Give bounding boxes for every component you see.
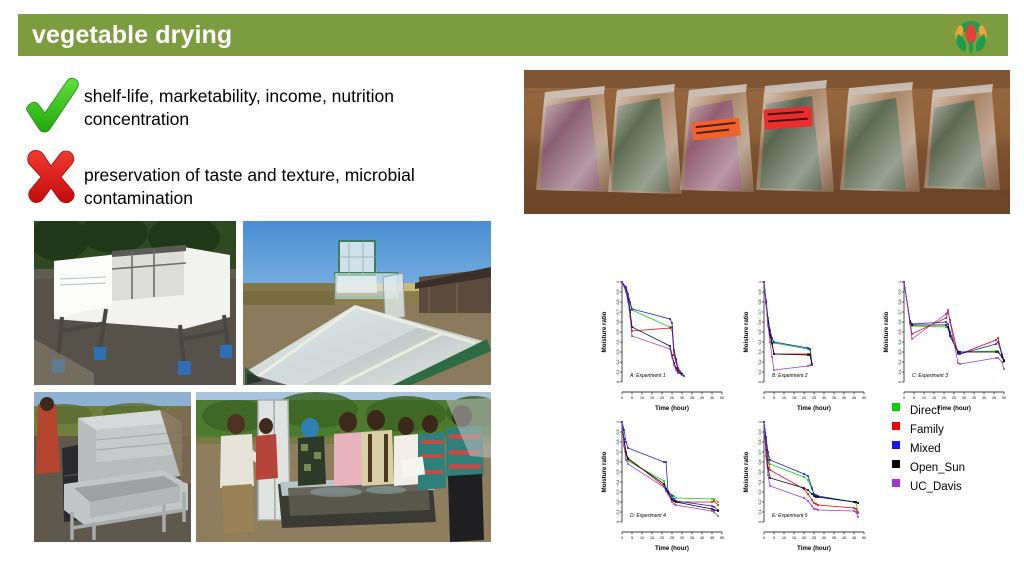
svg-text:40: 40 — [700, 536, 704, 540]
photo-dried-vegetable-bags — [524, 70, 1010, 214]
svg-text:0.6: 0.6 — [898, 320, 902, 325]
svg-text:0: 0 — [758, 521, 762, 523]
svg-text:50: 50 — [1002, 396, 1006, 400]
svg-text:5: 5 — [631, 396, 633, 400]
svg-text:50: 50 — [720, 536, 724, 540]
svg-text:35: 35 — [690, 536, 694, 540]
svg-text:0.8: 0.8 — [616, 440, 620, 445]
svg-text:50: 50 — [862, 536, 866, 540]
svg-text:25: 25 — [812, 536, 816, 540]
page-title: vegetable drying — [18, 23, 232, 48]
svg-text:1: 1 — [616, 421, 620, 423]
legend-label-open_sun: Open_Sun — [910, 462, 965, 474]
svg-text:0.7: 0.7 — [758, 310, 762, 315]
svg-text:Moisture ratio: Moisture ratio — [601, 451, 608, 492]
chart-panel-label: A: Experiment 1 — [629, 373, 666, 379]
svg-text:25: 25 — [670, 536, 674, 540]
bullet-challenges-text: preservation of taste and texture, micro… — [84, 148, 510, 210]
svg-text:0.1: 0.1 — [616, 370, 620, 375]
svg-text:50: 50 — [862, 396, 866, 400]
svg-text:45: 45 — [710, 396, 714, 400]
svg-text:10: 10 — [640, 536, 644, 540]
svg-text:20: 20 — [802, 396, 806, 400]
svg-text:35: 35 — [690, 396, 694, 400]
svg-text:0.4: 0.4 — [898, 340, 902, 345]
svg-text:20: 20 — [802, 536, 806, 540]
legend-label-uc_davis: UC_Davis — [910, 481, 962, 493]
svg-text:20: 20 — [942, 396, 946, 400]
svg-text:40: 40 — [842, 396, 846, 400]
green-check-icon — [20, 78, 82, 136]
svg-text:0.5: 0.5 — [616, 330, 620, 335]
svg-text:0.6: 0.6 — [616, 320, 620, 325]
svg-text:0: 0 — [616, 521, 620, 523]
svg-text:5: 5 — [631, 536, 633, 540]
svg-text:0.2: 0.2 — [898, 360, 902, 365]
photo-metal-cabinet-dryer — [34, 392, 191, 542]
svg-text:0.4: 0.4 — [758, 480, 762, 485]
svg-text:0.6: 0.6 — [758, 320, 762, 325]
photo-solar-tunnel-dryer — [243, 221, 491, 385]
svg-text:30: 30 — [822, 396, 826, 400]
svg-text:15: 15 — [792, 396, 796, 400]
svg-text:45: 45 — [852, 396, 856, 400]
svg-text:25: 25 — [952, 396, 956, 400]
svg-text:45: 45 — [992, 396, 996, 400]
svg-text:5: 5 — [913, 396, 915, 400]
svg-text:Time (hour): Time (hour) — [797, 545, 831, 552]
svg-text:0.4: 0.4 — [758, 340, 762, 345]
svg-text:Time (hour): Time (hour) — [937, 405, 971, 412]
svg-text:30: 30 — [680, 536, 684, 540]
svg-text:0.1: 0.1 — [898, 370, 902, 375]
svg-text:15: 15 — [792, 536, 796, 540]
legend-swatch-uc_davis — [892, 479, 900, 487]
svg-text:10: 10 — [782, 536, 786, 540]
svg-text:10: 10 — [782, 396, 786, 400]
svg-text:1: 1 — [758, 421, 762, 423]
svg-text:40: 40 — [982, 396, 986, 400]
svg-text:0.4: 0.4 — [616, 340, 620, 345]
svg-text:0: 0 — [763, 536, 765, 540]
svg-text:5: 5 — [773, 536, 775, 540]
svg-text:0.2: 0.2 — [758, 500, 762, 505]
photo-training-group — [196, 392, 491, 542]
svg-text:Moisture ratio: Moisture ratio — [743, 311, 750, 352]
legend-swatch-open_sun — [892, 460, 900, 468]
svg-text:0.5: 0.5 — [758, 330, 762, 335]
svg-text:0.3: 0.3 — [616, 350, 620, 355]
flower-logo-icon — [946, 17, 996, 55]
svg-text:35: 35 — [972, 396, 976, 400]
svg-text:0.6: 0.6 — [758, 460, 762, 465]
svg-text:0: 0 — [898, 381, 902, 383]
chart-svg: 00.10.20.30.40.50.60.70.80.91Moisture ra… — [592, 262, 1012, 552]
bullet-challenges: preservation of taste and texture, micro… — [20, 148, 510, 210]
legend-swatch-direct — [892, 403, 900, 411]
slide-canvas: vegetable drying — [0, 0, 1024, 576]
chart-panel-label: C: Experiment 3 — [912, 373, 948, 379]
svg-text:0: 0 — [903, 396, 905, 400]
svg-text:0.7: 0.7 — [616, 310, 620, 315]
svg-text:1: 1 — [758, 281, 762, 283]
svg-text:Moisture ratio: Moisture ratio — [601, 311, 608, 352]
svg-text:0: 0 — [763, 396, 765, 400]
svg-text:40: 40 — [842, 536, 846, 540]
svg-text:30: 30 — [822, 536, 826, 540]
svg-text:0.3: 0.3 — [758, 490, 762, 495]
svg-text:0.3: 0.3 — [758, 350, 762, 355]
svg-text:0.7: 0.7 — [758, 450, 762, 455]
svg-text:0.9: 0.9 — [758, 290, 762, 295]
svg-text:0.3: 0.3 — [898, 350, 902, 355]
svg-text:0.8: 0.8 — [898, 300, 902, 305]
svg-text:0.9: 0.9 — [898, 290, 902, 295]
svg-text:45: 45 — [852, 536, 856, 540]
svg-text:0.8: 0.8 — [616, 300, 620, 305]
svg-text:30: 30 — [680, 396, 684, 400]
svg-text:Moisture ratio: Moisture ratio — [743, 451, 750, 492]
svg-text:0.8: 0.8 — [758, 300, 762, 305]
svg-text:0: 0 — [758, 381, 762, 383]
svg-text:40: 40 — [700, 396, 704, 400]
svg-text:10: 10 — [922, 396, 926, 400]
svg-text:10: 10 — [640, 396, 644, 400]
svg-text:0: 0 — [621, 536, 623, 540]
moisture-ratio-chart: 00.10.20.30.40.50.60.70.80.91Moisture ra… — [592, 262, 1012, 552]
svg-text:Time (hour): Time (hour) — [655, 405, 689, 412]
svg-text:0.9: 0.9 — [758, 430, 762, 435]
svg-text:1: 1 — [898, 281, 902, 283]
legend-swatch-family — [892, 422, 900, 430]
legend-label-direct: Direct — [910, 405, 941, 417]
svg-text:25: 25 — [812, 396, 816, 400]
svg-text:0.7: 0.7 — [898, 310, 902, 315]
svg-text:50: 50 — [720, 396, 724, 400]
svg-text:0.5: 0.5 — [758, 470, 762, 475]
svg-text:30: 30 — [962, 396, 966, 400]
svg-text:0.4: 0.4 — [616, 480, 620, 485]
svg-text:15: 15 — [932, 396, 936, 400]
svg-text:0.2: 0.2 — [616, 360, 620, 365]
svg-text:20: 20 — [660, 396, 664, 400]
svg-text:0.5: 0.5 — [898, 330, 902, 335]
svg-text:35: 35 — [832, 396, 836, 400]
red-cross-icon — [20, 148, 82, 206]
chart-panel-label: E: Experiment 5 — [772, 513, 808, 519]
bullet-advantages: shelf-life, marketability, income, nutri… — [20, 78, 500, 136]
legend-label-mixed: Mixed — [910, 443, 941, 455]
svg-text:0.1: 0.1 — [616, 510, 620, 515]
chart-panel-label: D: Experiment 4 — [630, 513, 666, 519]
svg-text:0.2: 0.2 — [758, 360, 762, 365]
svg-text:0.9: 0.9 — [616, 290, 620, 295]
legend-swatch-mixed — [892, 441, 900, 449]
svg-text:0.6: 0.6 — [616, 460, 620, 465]
legend-label-family: Family — [910, 424, 944, 436]
chart-panel-label: B: Experiment 2 — [772, 373, 808, 379]
svg-text:0.9: 0.9 — [616, 430, 620, 435]
svg-text:20: 20 — [660, 536, 664, 540]
svg-text:15: 15 — [650, 396, 654, 400]
title-banner: vegetable drying — [18, 14, 1008, 56]
svg-text:0.2: 0.2 — [616, 500, 620, 505]
svg-text:1: 1 — [616, 281, 620, 283]
svg-text:0: 0 — [616, 381, 620, 383]
svg-text:0.5: 0.5 — [616, 470, 620, 475]
bullet-advantages-text: shelf-life, marketability, income, nutri… — [84, 78, 500, 131]
svg-text:0.8: 0.8 — [758, 440, 762, 445]
svg-text:0.3: 0.3 — [616, 490, 620, 495]
svg-text:15: 15 — [650, 536, 654, 540]
svg-text:0.7: 0.7 — [616, 450, 620, 455]
svg-text:0.1: 0.1 — [758, 510, 762, 515]
svg-text:Time (hour): Time (hour) — [655, 545, 689, 552]
svg-text:0.1: 0.1 — [758, 370, 762, 375]
svg-text:Moisture ratio: Moisture ratio — [883, 311, 890, 352]
svg-text:0: 0 — [621, 396, 623, 400]
svg-text:35: 35 — [832, 536, 836, 540]
svg-text:Time (hour): Time (hour) — [797, 405, 831, 412]
photo-white-solar-dryer-box — [34, 221, 236, 385]
svg-text:25: 25 — [670, 396, 674, 400]
svg-text:45: 45 — [710, 536, 714, 540]
svg-text:5: 5 — [773, 396, 775, 400]
